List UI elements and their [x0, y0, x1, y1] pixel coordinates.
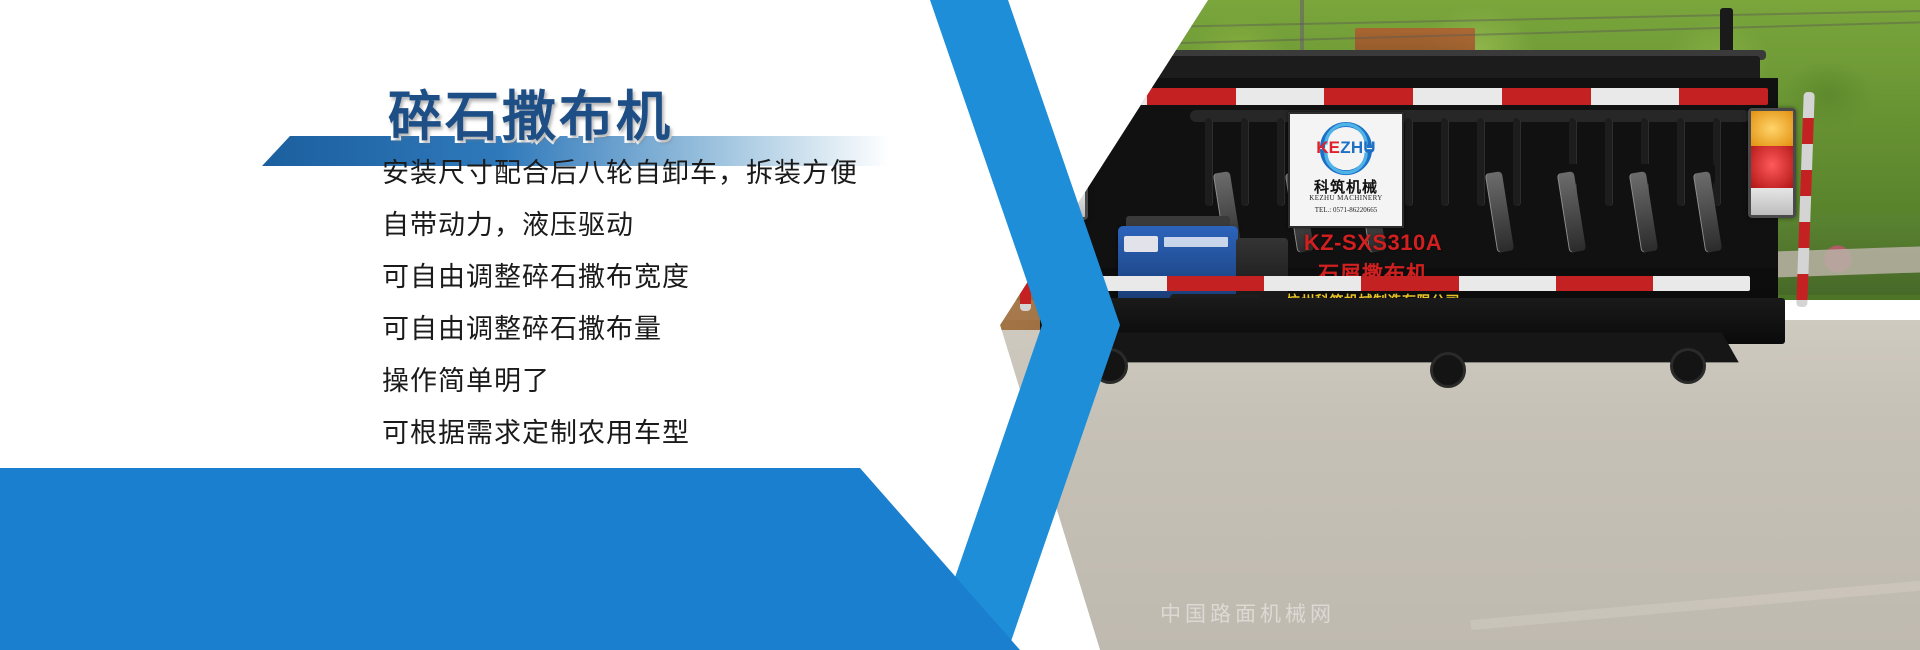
feature-item: 操作简单明了 [382, 356, 942, 408]
brand-placard: KEZHU 科筑机械 KEZHU MACHINERY TEL.: 0571-86… [1288, 112, 1404, 228]
feature-item: 自带动力，液压驱动 [382, 200, 942, 252]
kezhu-logo: KEZHU [1290, 118, 1402, 178]
reflective-stripe-upper [1058, 88, 1768, 105]
feature-item: 安装尺寸配合后八轮自卸车，拆装方便 [382, 148, 942, 200]
machine-apron [1081, 332, 1738, 362]
placard-company-en: KEZHU MACHINERY [1290, 194, 1402, 202]
chip-spreader-machine: KEZHU 科筑机械 KEZHU MACHINERY TEL.: 0571-86… [1030, 48, 1820, 388]
tail-light-right [1748, 108, 1796, 218]
caster-wheel [1670, 348, 1706, 384]
brand-zhu: ZHU [1340, 138, 1376, 157]
placard-tel: TEL.: 0571-86220665 [1290, 206, 1402, 214]
reflective-stripe-lower [1070, 276, 1750, 291]
feature-item: 可自由调整碎石撒布量 [382, 304, 942, 356]
brand-ke: KE [1316, 138, 1340, 157]
marker-pole-right [1796, 92, 1814, 307]
feature-item: 可自由调整碎石撒布宽度 [382, 252, 942, 304]
product-banner: 中国路面机械网 [0, 0, 1920, 650]
caster-wheel [1430, 352, 1466, 388]
kezhu-wordmark: KEZHU [1290, 138, 1402, 158]
feature-list: 安装尺寸配合后八轮自卸车，拆装方便 自带动力，液压驱动 可自由调整碎石撒布宽度 … [382, 148, 942, 460]
watermark-text: 中国路面机械网 [1160, 598, 1335, 628]
machine-model-number: KZ-SXS310A [1258, 230, 1488, 256]
feature-item: 可根据需求定制农用车型 [382, 408, 942, 460]
page-title: 碎石撒布机 [388, 72, 673, 151]
hydraulic-hose-group [1195, 118, 1745, 214]
